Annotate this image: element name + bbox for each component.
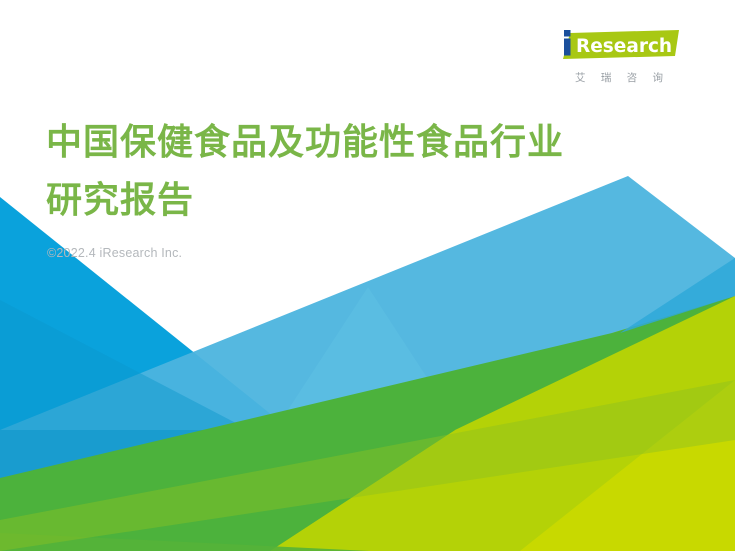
page-title: 中国保健食品及功能性食品行业 研究报告 [46, 114, 564, 230]
logo-i-stem [564, 39, 571, 56]
page-title-line-2: 研究报告 [46, 172, 564, 230]
iresearch-logo-mark: Research [559, 30, 679, 64]
logo-wordmark-text: Research [576, 36, 672, 57]
logo-i-dot [564, 30, 571, 37]
page-title-line-1: 中国保健食品及功能性食品行业 [46, 114, 564, 172]
copyright-notice: ©2022.4 iResearch Inc. [47, 246, 182, 260]
report-cover-page: Research 艾 瑞 咨 询 中国保健食品及功能性食品行业 研究报告 ©20… [0, 0, 735, 551]
iresearch-logo: Research 艾 瑞 咨 询 [559, 30, 679, 85]
logo-subtitle-chinese: 艾 瑞 咨 询 [559, 70, 679, 85]
